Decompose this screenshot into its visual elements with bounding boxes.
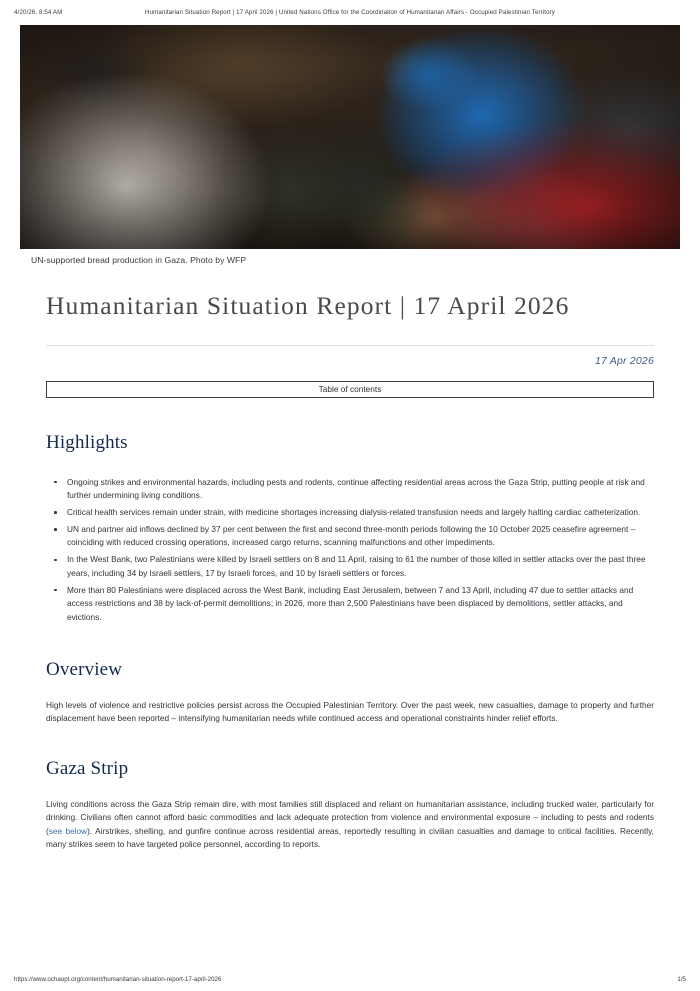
- gaza-strip-paragraph: Living conditions across the Gaza Strip …: [46, 798, 654, 852]
- list-item: In the West Bank, two Palestinians were …: [50, 553, 654, 580]
- section-highlights: Highlights Ongoing strikes and environme…: [46, 432, 654, 624]
- gaza-paragraph-part2: ). Airstrikes, shelling, and gunfire con…: [46, 826, 654, 849]
- print-document-title: Humanitarian Situation Report | 17 April…: [0, 9, 700, 16]
- list-item: UN and partner aid inflows declined by 3…: [50, 523, 654, 550]
- publish-date: 17 Apr 2026: [46, 355, 654, 367]
- section-overview: Overview High levels of violence and res…: [46, 659, 654, 726]
- table-of-contents-label: Table of contents: [319, 384, 382, 394]
- title-divider: [46, 345, 654, 346]
- footer-url: https://www.ochaopt.org/content/humanita…: [14, 976, 221, 983]
- print-footer: https://www.ochaopt.org/content/humanita…: [14, 976, 686, 983]
- hero-caption: UN-supported bread production in Gaza. P…: [31, 255, 246, 265]
- gaza-strip-heading: Gaza Strip: [46, 758, 654, 780]
- overview-paragraph: High levels of violence and restrictive …: [46, 699, 654, 726]
- list-item: More than 80 Palestinians were displaced…: [50, 584, 654, 624]
- highlights-heading: Highlights: [46, 432, 654, 454]
- overview-heading: Overview: [46, 659, 654, 681]
- print-header: 4/20/26, 8:54 AM Humanitarian Situation …: [0, 0, 700, 24]
- hero-vignette-overlay: [20, 25, 680, 249]
- list-item: Critical health services remain under st…: [50, 506, 654, 519]
- list-item: Ongoing strikes and environmental hazard…: [50, 476, 654, 503]
- hero-image: [20, 25, 680, 249]
- highlights-list: Ongoing strikes and environmental hazard…: [50, 476, 654, 624]
- page-title: Humanitarian Situation Report | 17 April…: [46, 290, 654, 323]
- section-gaza-strip: Gaza Strip Living conditions across the …: [46, 758, 654, 852]
- article-body: Humanitarian Situation Report | 17 April…: [46, 290, 654, 852]
- footer-page-number: 1/5: [677, 976, 686, 983]
- see-below-link[interactable]: see below: [49, 826, 87, 836]
- table-of-contents-toggle[interactable]: Table of contents: [46, 381, 654, 398]
